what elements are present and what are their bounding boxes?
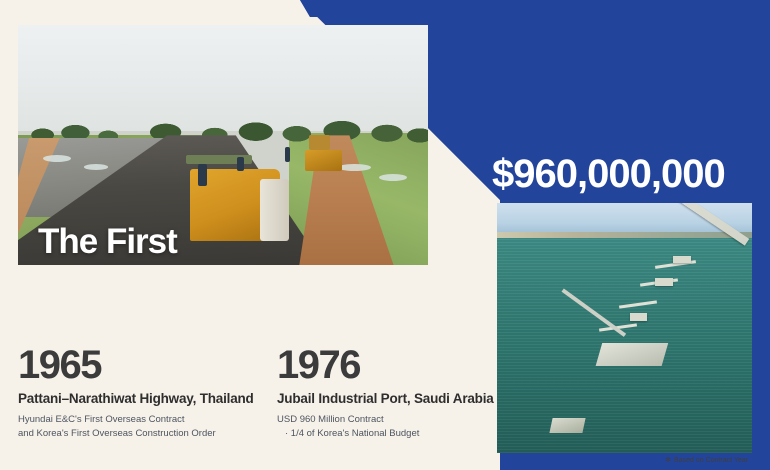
milestone-1965: 1965 Pattani–Narathiwat Highway, Thailan…	[18, 345, 254, 441]
milestone-description: USD 960 Million Contract · 1/4 of Korea'…	[277, 413, 494, 441]
milestone-description: Hyundai E&C's First Overseas Contract an…	[18, 413, 254, 441]
milestone-desc-line: USD 960 Million Contract	[277, 413, 494, 427]
milestone-title: Pattani–Narathiwat Highway, Thailand	[18, 391, 254, 406]
footnote-text: Based on Contract Year	[674, 457, 748, 464]
photo-berth-pad	[630, 313, 648, 321]
milestone-desc-line: Hyundai E&C's First Overseas Contract	[18, 413, 254, 427]
headline-contract-amount: $960,000,000	[492, 154, 725, 194]
jubail-industrial-port-aerial-photo	[497, 203, 752, 453]
footnote: ✻ Based on Contract Year	[665, 457, 748, 464]
milestone-desc-line: · 1/4 of Korea's National Budget	[277, 427, 494, 441]
photo-pier-terminus	[549, 418, 585, 433]
photo-caption-the-first: The First	[38, 224, 177, 259]
highway-construction-photo: The First	[18, 25, 428, 265]
slide-canvas: The First $960,000,000 1965 Pattani–Nara…	[0, 0, 770, 470]
milestone-desc-line: and Korea's First Overseas Construction …	[18, 427, 254, 441]
photo-main-platform	[596, 343, 669, 366]
photo-roller-drum	[260, 179, 289, 241]
asterisk-icon: ✻	[665, 457, 671, 464]
milestone-year: 1965	[18, 345, 254, 385]
photo-sky	[18, 25, 428, 131]
milestone-title: Jubail Industrial Port, Saudi Arabia	[277, 391, 494, 406]
photo-worker	[198, 164, 207, 186]
photo-worker	[285, 147, 291, 161]
photo-distant-truck	[309, 135, 330, 149]
photo-dump-truck	[305, 150, 342, 172]
photo-berth-pad	[673, 256, 691, 264]
photo-berth-pad	[655, 278, 673, 286]
milestone-year: 1976	[277, 345, 494, 385]
photo-shoreline	[497, 232, 752, 238]
photo-puddle	[43, 155, 72, 162]
photo-puddle	[379, 174, 408, 181]
photo-worker	[237, 157, 244, 171]
milestone-1976: 1976 Jubail Industrial Port, Saudi Arabi…	[277, 345, 494, 441]
